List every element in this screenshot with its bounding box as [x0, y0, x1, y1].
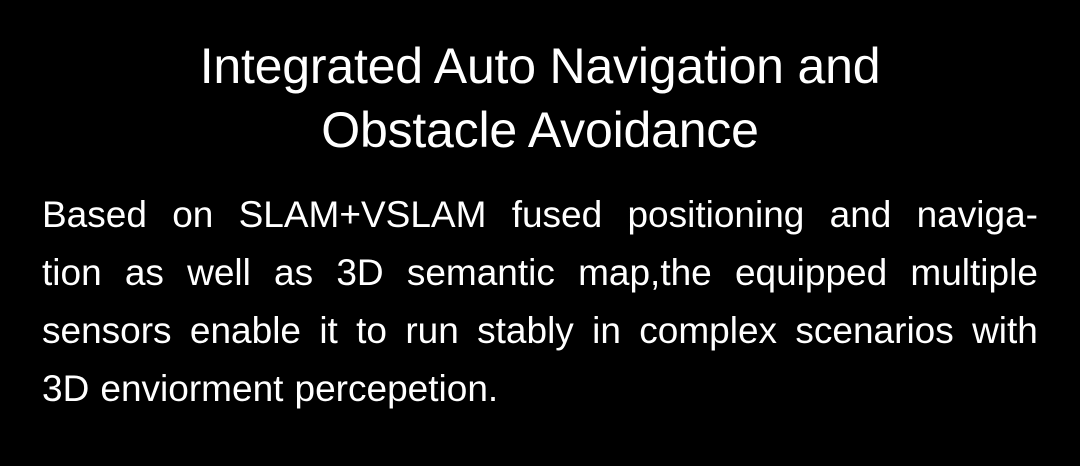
body-word: and	[830, 186, 892, 244]
slide-title-line-1: Integrated Auto Navigation and	[0, 34, 1080, 98]
body-line-4: 3D enviorment percepetion.	[42, 360, 1038, 418]
body-word: Based	[42, 186, 147, 244]
body-word: as	[125, 244, 164, 302]
body-word: as	[274, 244, 313, 302]
body-word: semantic	[407, 244, 555, 302]
body-word: complex	[639, 302, 777, 360]
body-word: fused	[512, 186, 603, 244]
body-word: naviga-	[917, 186, 1038, 244]
body-word: scenarios	[795, 302, 953, 360]
body-word: to	[356, 302, 387, 360]
body-word: on	[172, 186, 213, 244]
body-line-1: Based on SLAM+VSLAM fused positioning an…	[42, 186, 1038, 244]
body-word: percepetion.	[295, 360, 499, 418]
body-word: enviorment	[100, 360, 283, 418]
body-word: run	[405, 302, 458, 360]
body-word: equipped	[735, 244, 887, 302]
body-word: with	[972, 302, 1038, 360]
body-word: 3D	[42, 360, 89, 418]
body-word: map,the	[578, 244, 712, 302]
body-word: sensors	[42, 302, 172, 360]
body-word: in	[592, 302, 621, 360]
body-line-3: sensors enable it to run stably in compl…	[42, 302, 1038, 360]
body-word: positioning	[627, 186, 804, 244]
slide-body-paragraph: Based on SLAM+VSLAM fused positioning an…	[42, 186, 1038, 418]
body-line-2: tion as well as 3D semantic map,the equi…	[42, 244, 1038, 302]
slide-canvas: Integrated Auto Navigation and Obstacle …	[0, 0, 1080, 466]
slide-title-line-2: Obstacle Avoidance	[0, 98, 1080, 162]
slide-title: Integrated Auto Navigation and Obstacle …	[0, 34, 1080, 162]
body-word: multiple	[910, 244, 1038, 302]
body-word: it	[319, 302, 338, 360]
body-word: SLAM+VSLAM	[239, 186, 487, 244]
body-word: well	[187, 244, 251, 302]
body-word: 3D	[336, 244, 383, 302]
body-word: tion	[42, 244, 102, 302]
body-word: stably	[477, 302, 574, 360]
body-word: enable	[190, 302, 301, 360]
